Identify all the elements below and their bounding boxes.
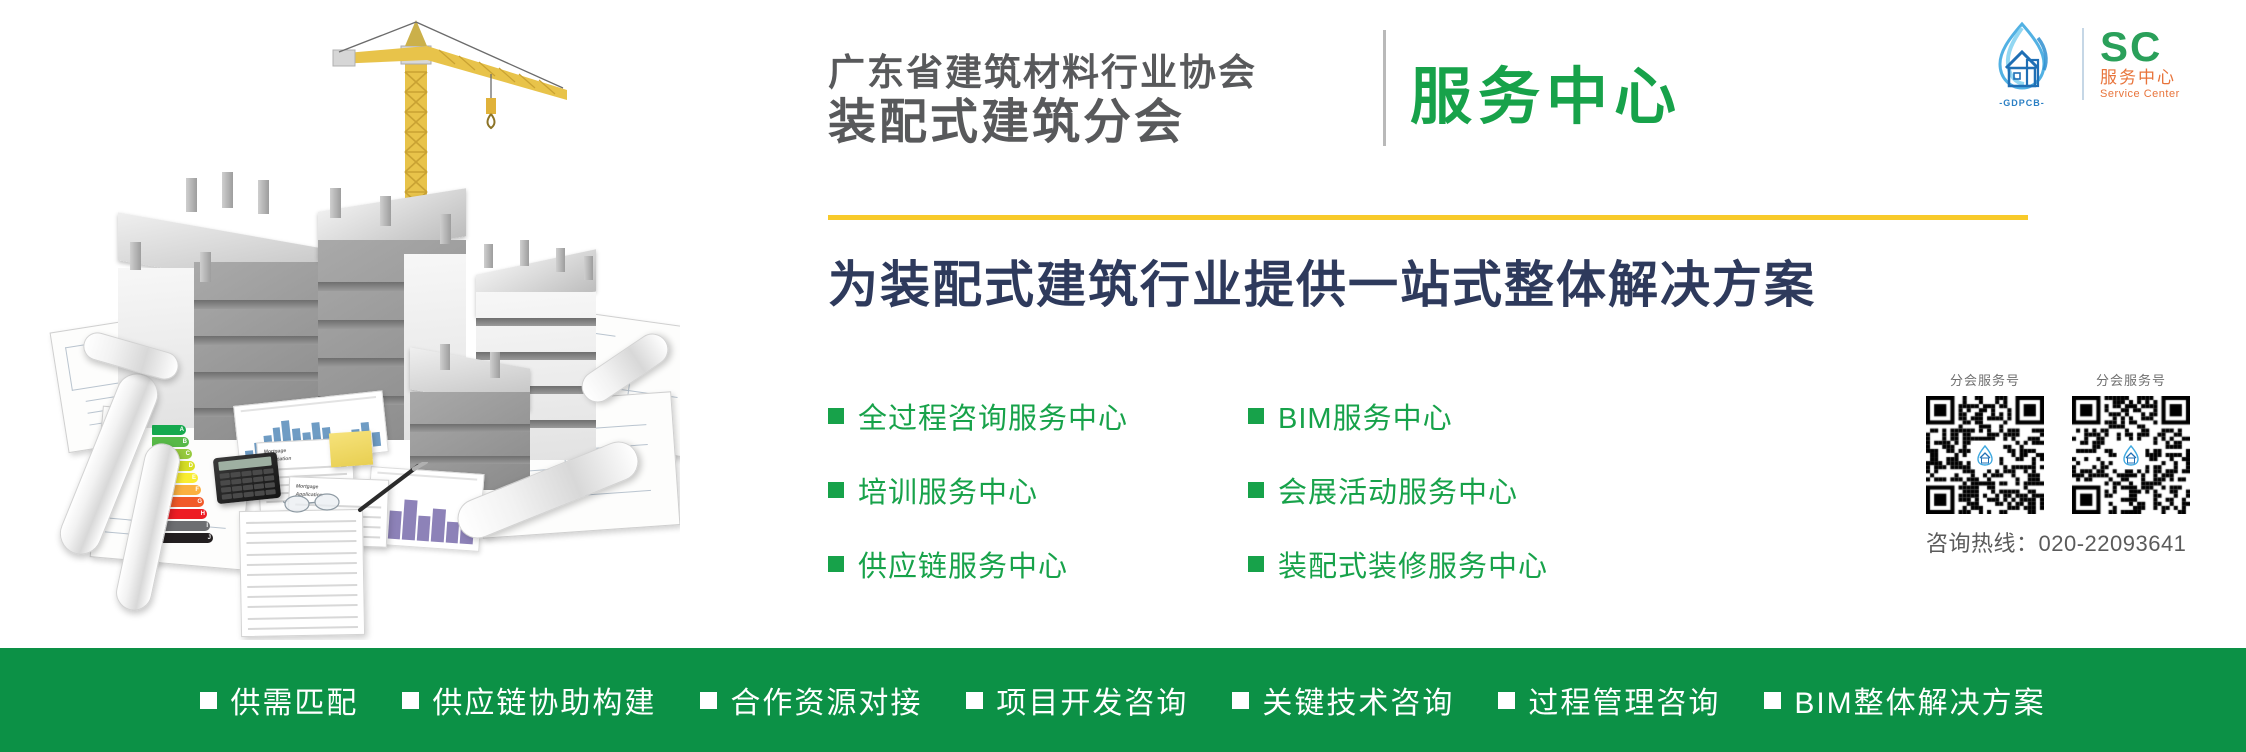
- square-bullet-icon: [700, 692, 717, 709]
- service-column-left: 全过程咨询服务中心 培训服务中心 供应链服务中心: [828, 395, 1128, 585]
- bottom-bar-label: 项目开发咨询: [996, 678, 1188, 722]
- service-item[interactable]: 培训服务中心: [828, 469, 1128, 511]
- square-bullet-icon: [828, 408, 844, 424]
- bottom-bar-item[interactable]: BIM整体解决方案: [1764, 678, 2045, 722]
- square-bullet-icon: [1498, 692, 1515, 709]
- service-item-label: 供应链服务中心: [858, 543, 1068, 585]
- energy-rating-row: A: [152, 425, 186, 435]
- application-document: [239, 509, 365, 637]
- gdpcb-logo-icon: -GDPCB-: [1978, 20, 2066, 108]
- banner-root: Mortgage Application Mortgage Applicatio…: [0, 0, 2246, 752]
- service-item[interactable]: 会展活动服务中心: [1248, 469, 1548, 511]
- bottom-bar-label: 供应链协助构建: [432, 678, 656, 722]
- bottom-bar-item[interactable]: 供应链协助构建: [402, 678, 656, 722]
- square-bullet-icon: [1248, 556, 1264, 572]
- qr-center-logo-icon: [2117, 441, 2145, 469]
- sc-letters: SC: [2100, 27, 2230, 67]
- hero-construction-image: Mortgage Application Mortgage Applicatio…: [0, 0, 680, 640]
- hotline-text: 咨询热线：020-22093641: [1926, 526, 2226, 558]
- yellow-divider-rule: [828, 215, 2028, 220]
- bottom-bar-item[interactable]: 合作资源对接: [700, 678, 922, 722]
- service-item-label: 装配式装修服务中心: [1278, 543, 1548, 585]
- brand-logo-block: -GDPCB- SC 服务中心 Service Center: [1978, 18, 2230, 110]
- service-item-label: 全过程咨询服务中心: [858, 395, 1128, 437]
- bottom-bar-item[interactable]: 关键技术咨询: [1232, 678, 1454, 722]
- page-headline: 为装配式建筑行业提供一站式整体解决方案: [828, 245, 1816, 317]
- bottom-bar-label: 合作资源对接: [730, 678, 922, 722]
- calculator-icon: [213, 452, 281, 504]
- logo-divider: [2082, 28, 2084, 100]
- service-item[interactable]: 供应链服务中心: [828, 543, 1128, 585]
- bottom-bar-label: 过程管理咨询: [1528, 678, 1720, 722]
- square-bullet-icon: [828, 556, 844, 572]
- association-title-line2: 装配式建筑分会: [828, 96, 1358, 150]
- square-bullet-icon: [1764, 692, 1781, 709]
- bottom-bar-item[interactable]: 过程管理咨询: [1498, 678, 1720, 722]
- content-area: 广东省建筑材料行业协会 装配式建筑分会 服务中心 为装配式建筑行业提供一站式整体…: [680, 0, 2246, 640]
- square-bullet-icon: [1248, 482, 1264, 498]
- sc-chinese-label: 服务中心: [2100, 68, 2230, 88]
- qr-cell: 分会服务号: [2072, 370, 2190, 514]
- bottom-bar-label: 供需匹配: [230, 678, 358, 722]
- title-divider: [1383, 30, 1386, 146]
- qr-caption: 分会服务号: [2072, 370, 2190, 389]
- bottom-bar-label: BIM整体解决方案: [1794, 678, 2045, 722]
- qr-center-logo-icon: [1971, 441, 1999, 469]
- bottom-bar-label: 关键技术咨询: [1262, 678, 1454, 722]
- bottom-bar-item[interactable]: 供需匹配: [200, 678, 358, 722]
- square-bullet-icon: [200, 692, 217, 709]
- bottom-bar-item[interactable]: 项目开发咨询: [966, 678, 1188, 722]
- qr-code-image[interactable]: [1926, 396, 2044, 514]
- pen-icon: [356, 462, 430, 514]
- association-title-line1: 广东省建筑材料行业协会: [828, 52, 1358, 94]
- qr-code-block: 分会服务号 分会服务号: [1926, 370, 2226, 558]
- association-title: 广东省建筑材料行业协会 装配式建筑分会: [828, 52, 1358, 150]
- qr-code-image[interactable]: [2072, 396, 2190, 514]
- service-item[interactable]: BIM服务中心: [1248, 395, 1548, 437]
- service-item-label: 会展活动服务中心: [1278, 469, 1518, 511]
- square-bullet-icon: [966, 692, 983, 709]
- square-bullet-icon: [1232, 692, 1249, 709]
- square-bullet-icon: [402, 692, 419, 709]
- sc-logo: SC 服务中心 Service Center: [2100, 27, 2230, 101]
- square-bullet-icon: [828, 482, 844, 498]
- square-bullet-icon: [1248, 408, 1264, 424]
- service-item[interactable]: 全过程咨询服务中心: [828, 395, 1128, 437]
- service-item-label: BIM服务中心: [1278, 395, 1453, 437]
- service-column-right: BIM服务中心 会展活动服务中心 装配式装修服务中心: [1248, 395, 1548, 585]
- service-item-label: 培训服务中心: [858, 469, 1038, 511]
- sc-english-label: Service Center: [2100, 88, 2230, 101]
- bottom-service-bar: 供需匹配 供应链协助构建 合作资源对接 项目开发咨询 关键技术咨询 过程管理咨询…: [0, 648, 2246, 752]
- service-center-list: 全过程咨询服务中心 培训服务中心 供应链服务中心 BIM服务中心: [828, 395, 1568, 585]
- gdpcb-logo-text: -GDPCB-: [1978, 98, 2066, 108]
- qr-caption: 分会服务号: [1926, 370, 2044, 389]
- qr-cell: 分会服务号: [1926, 370, 2044, 514]
- eyeglasses-icon: [283, 492, 343, 514]
- service-center-title: 服务中心: [1410, 48, 1682, 148]
- service-item[interactable]: 装配式装修服务中心: [1248, 543, 1548, 585]
